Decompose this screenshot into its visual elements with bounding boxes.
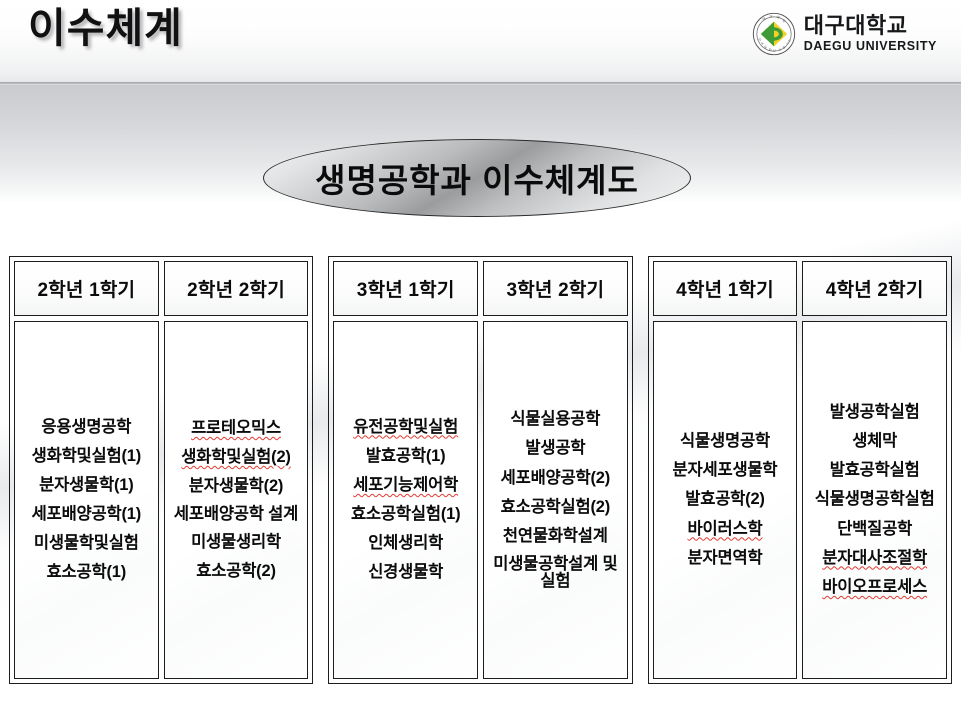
- course-item: 분자생물학(2): [189, 473, 283, 501]
- course-item: 프로테오믹스: [191, 414, 281, 442]
- semester-header: 3학년 1학기: [333, 261, 478, 316]
- course-item: 유전공학및실험: [353, 413, 458, 441]
- course-item: 생체막: [852, 428, 897, 456]
- course-item: 세포기능제어학: [353, 471, 458, 499]
- semester-column: 2학년 2학기프로테오믹스생화학및실험(2)분자생물학(2)세포배양공학 설계미…: [164, 261, 309, 679]
- course-item: 생화학및실험(1): [32, 442, 141, 470]
- semester-header-label: 4학년 2학기: [826, 275, 924, 302]
- daegu-university-emblem-icon: 대 구 대 학 D A E G U U N I V: [752, 12, 796, 56]
- course-item: 세포배양공학(2): [501, 464, 610, 492]
- course-item: 분자세포생물학: [673, 457, 778, 485]
- course-item: 분자생물학(1): [39, 471, 133, 499]
- course-list: 발생공학실험생체막발효공학실험식물생명공학실험단백질공학분자대사조절학바이오프로…: [802, 321, 947, 679]
- course-item: 효소공학실험(1): [351, 501, 460, 529]
- course-item: 발생공학실험: [830, 399, 920, 427]
- curriculum-grid: 2학년 1학기응용생명공학생화학및실험(1)분자생물학(1)세포배양공학(1)미…: [9, 256, 952, 684]
- semester-header: 2학년 2학기: [164, 261, 309, 316]
- semester-header: 3학년 2학기: [483, 261, 628, 316]
- page-title: 이수체계: [28, 8, 183, 49]
- course-item: 발생공학: [525, 435, 585, 463]
- year-group-4학년: 4학년 1학기식물생명공학분자세포생물학발효공학(2)바이러스학분자면역학4학년…: [648, 256, 952, 684]
- semester-column: 4학년 1학기식물생명공학분자세포생물학발효공학(2)바이러스학분자면역학: [653, 261, 798, 679]
- logo-english-name: DAEGU UNIVERSITY: [804, 40, 937, 53]
- course-list: 프로테오믹스생화학및실험(2)분자생물학(2)세포배양공학 설계미생물생리학효소…: [164, 321, 309, 679]
- semester-header-label: 3학년 2학기: [506, 275, 604, 302]
- course-item: 효소공학실험(2): [501, 493, 610, 521]
- semester-header-label: 2학년 2학기: [187, 275, 285, 302]
- semester-column: 4학년 2학기발생공학실험생체막발효공학실험식물생명공학실험단백질공학분자대사조…: [802, 261, 947, 679]
- diagram-title-label: 생명공학과 이수체계도: [315, 154, 639, 202]
- course-item: 응용생명공학: [41, 413, 131, 441]
- course-list: 식물실용공학발생공학세포배양공학(2)효소공학실험(2)천연물화학설계미생물공학…: [483, 321, 628, 679]
- course-item: 미생물생리학: [191, 528, 281, 556]
- semester-header-label: 3학년 1학기: [357, 275, 455, 302]
- course-item: 발효공학(1): [366, 442, 446, 470]
- semester-header-label: 2학년 1학기: [37, 275, 135, 302]
- course-item: 세포배양공학(1): [32, 501, 141, 529]
- course-item: 바이오프로세스: [822, 573, 927, 601]
- course-item: 천연물화학설계: [503, 522, 608, 550]
- course-item: 식물실용공학: [510, 406, 600, 434]
- course-list: 유전공학및실험발효공학(1)세포기능제어학효소공학실험(1)인체생리학신경생물학: [333, 321, 478, 679]
- logo-korean-name: 대구대학교: [804, 15, 937, 37]
- course-item: 식물생명공학: [680, 428, 770, 456]
- semester-header: 2학년 1학기: [14, 261, 159, 316]
- course-item: 생화학및실험(2): [181, 443, 290, 471]
- course-item: 미생물공학설계 및 실험: [487, 551, 624, 594]
- course-list: 응용생명공학생화학및실험(1)분자생물학(1)세포배양공학(1)미생물학및실험효…: [14, 321, 159, 679]
- semester-header: 4학년 1학기: [653, 261, 798, 316]
- course-item: 단백질공학: [837, 515, 912, 543]
- course-item: 신경생물학: [368, 559, 443, 587]
- semester-column: 3학년 2학기식물실용공학발생공학세포배양공학(2)효소공학실험(2)천연물화학…: [483, 261, 628, 679]
- course-item: 세포배양공학 설계: [174, 502, 298, 528]
- course-item: 미생물학및실험: [34, 530, 139, 558]
- course-item: 발효공학실험: [830, 457, 920, 485]
- course-item: 인체생리학: [368, 530, 443, 558]
- course-item: 효소공학(1): [47, 559, 127, 587]
- course-list: 식물생명공학분자세포생물학발효공학(2)바이러스학분자면역학: [653, 321, 798, 679]
- year-group-2학년: 2학년 1학기응용생명공학생화학및실험(1)분자생물학(1)세포배양공학(1)미…: [9, 256, 313, 684]
- course-item: 식물생명공학실험: [815, 486, 935, 514]
- university-logo: 대 구 대 학 D A E G U U N I V 대구대학교 DAEGU UN…: [752, 12, 937, 56]
- diagram-title-oval: 생명공학과 이수체계도: [263, 139, 691, 217]
- semester-header-label: 4학년 1학기: [676, 275, 774, 302]
- course-item: 발효공학(2): [685, 486, 765, 514]
- course-item: 분자면역학: [688, 544, 763, 572]
- header-divider-rule: [0, 82, 961, 85]
- course-item: 효소공학(2): [196, 558, 276, 586]
- year-group-3학년: 3학년 1학기유전공학및실험발효공학(1)세포기능제어학효소공학실험(1)인체생…: [328, 256, 632, 684]
- logo-wordmark: 대구대학교 DAEGU UNIVERSITY: [804, 15, 937, 53]
- course-item: 분자대사조절학: [822, 544, 927, 572]
- semester-header: 4학년 2학기: [802, 261, 947, 316]
- semester-column: 3학년 1학기유전공학및실험발효공학(1)세포기능제어학효소공학실험(1)인체생…: [333, 261, 478, 679]
- semester-column: 2학년 1학기응용생명공학생화학및실험(1)분자생물학(1)세포배양공학(1)미…: [14, 261, 159, 679]
- course-item: 바이러스학: [688, 515, 763, 543]
